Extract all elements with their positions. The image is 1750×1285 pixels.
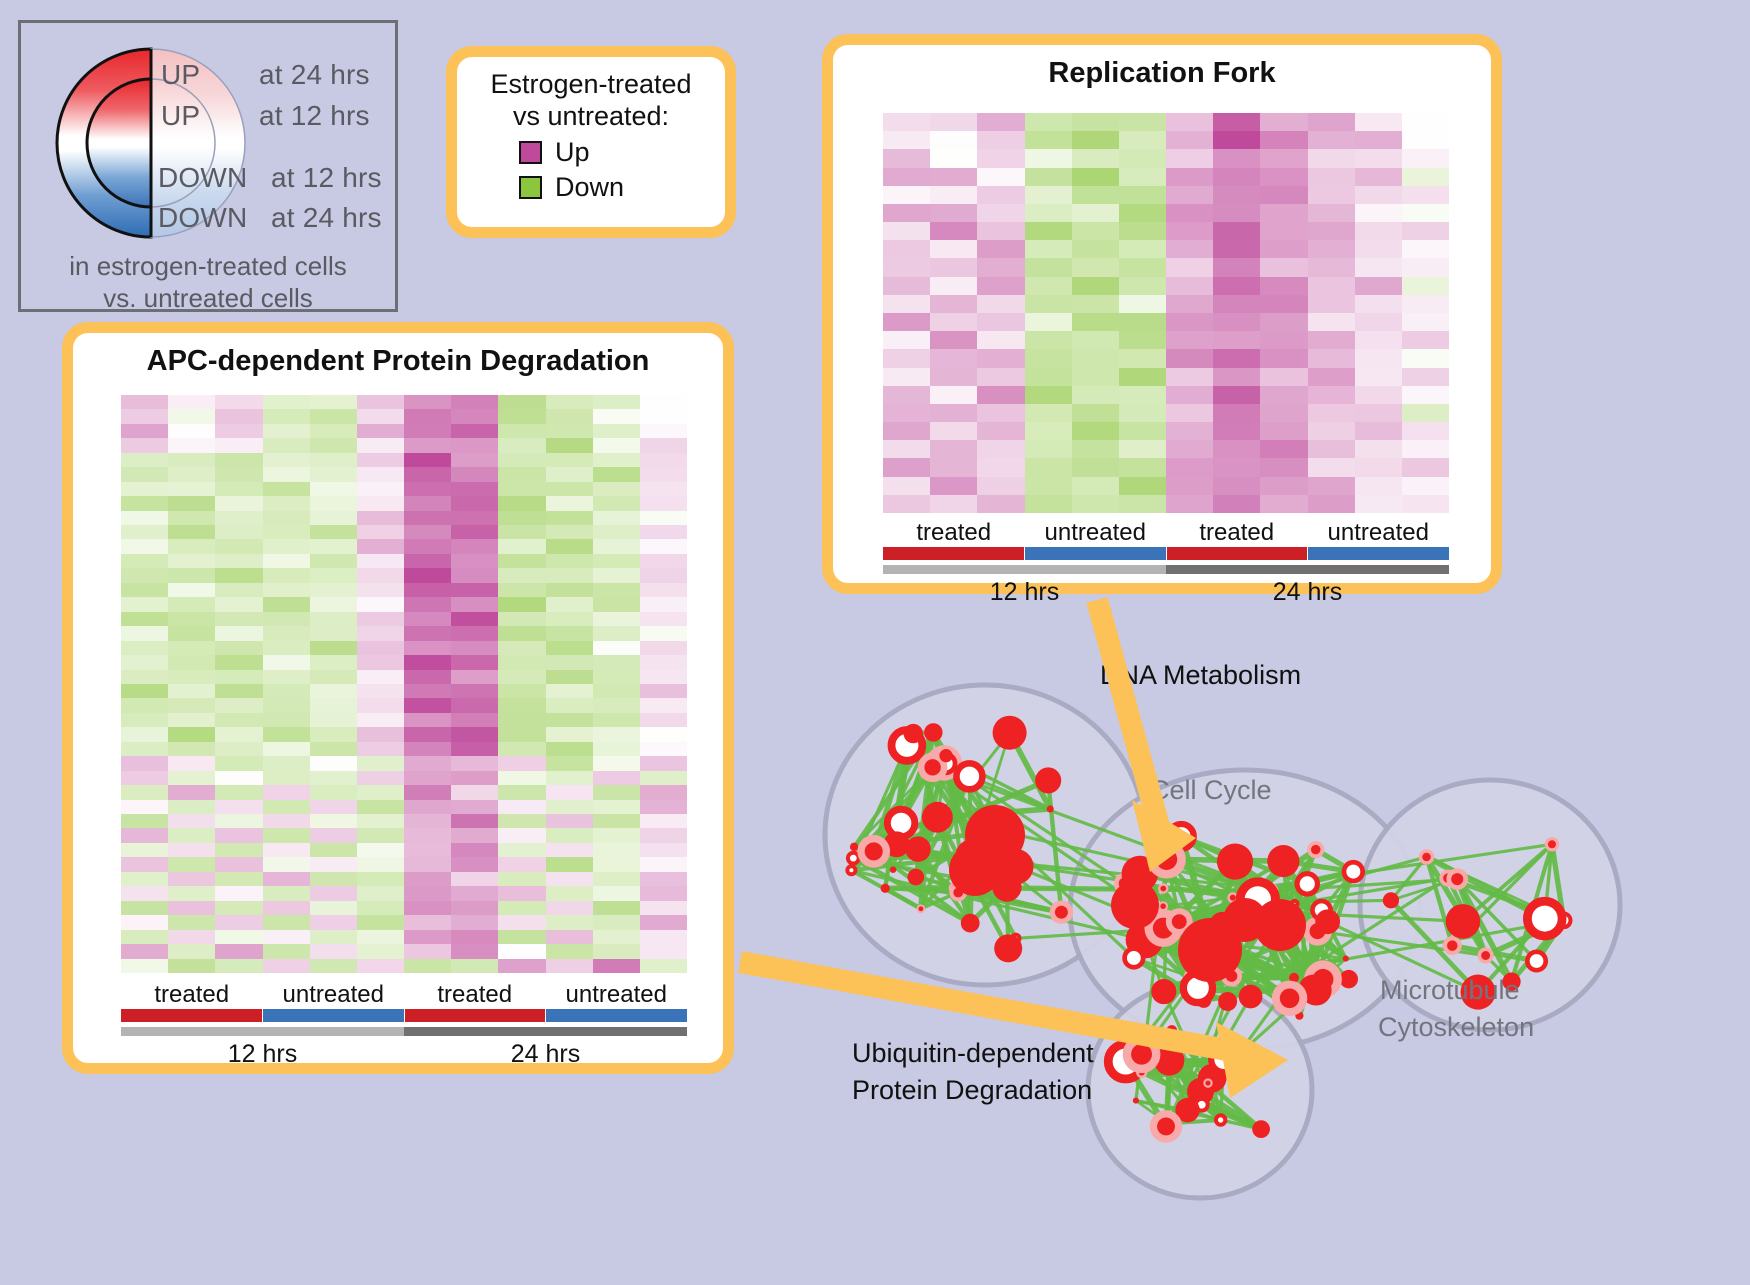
network-node — [1343, 955, 1349, 961]
heatmap-cell — [930, 331, 977, 349]
heatmap-cell — [883, 168, 930, 186]
heatmap-cell — [1308, 349, 1355, 367]
heatmap-cell — [168, 655, 215, 669]
heatmap-cell — [640, 930, 687, 944]
heatmap-cell — [883, 186, 930, 204]
heatmap-cell — [546, 785, 593, 799]
heatmap-cell — [593, 453, 640, 467]
color-key-footer: in estrogen-treated cells vs. untreated … — [21, 251, 395, 314]
heatmap-cell — [168, 785, 215, 799]
network-node-core — [1447, 940, 1458, 951]
heatmap-cell — [404, 583, 451, 597]
network-node — [994, 934, 1022, 962]
heatmap-cell — [930, 368, 977, 386]
heatmap-cell — [404, 496, 451, 510]
heatmap-cell — [977, 131, 1024, 149]
replication-fork-title: Replication Fork — [833, 57, 1491, 90]
heatmap-cell — [404, 655, 451, 669]
network-hub-node — [949, 844, 1001, 896]
heatmap-cell — [1072, 131, 1119, 149]
heatmap-cell — [1166, 258, 1213, 276]
heatmap-cell — [215, 670, 262, 684]
heatmap-cell — [121, 828, 168, 842]
heatmap-cell — [263, 944, 310, 958]
network-node-core — [1280, 989, 1300, 1009]
heatmap-cell — [451, 554, 498, 568]
heatmap-cell — [215, 785, 262, 799]
heatmap-cell — [263, 511, 310, 525]
network-node — [924, 723, 942, 741]
heatmap-cell — [930, 131, 977, 149]
condition-bar — [1167, 547, 1308, 560]
heatmap-cell — [1119, 149, 1166, 167]
apc-degradation-title: APC-dependent Protein Degradation — [73, 345, 723, 378]
heatmap-cell — [215, 626, 262, 640]
heatmap-cell — [1260, 204, 1307, 222]
heatmap-cell — [404, 800, 451, 814]
heatmap-cell — [121, 742, 168, 756]
heatmap-cell — [1308, 404, 1355, 422]
heatmap-cell — [1308, 240, 1355, 258]
heatmap-cell — [357, 742, 404, 756]
heatmap-cell — [215, 525, 262, 539]
heatmap-cell — [451, 771, 498, 785]
heatmap-cell — [404, 742, 451, 756]
heatmap-cell — [1072, 477, 1119, 495]
replication-fork-time-bars — [883, 565, 1449, 574]
heatmap-cell — [357, 872, 404, 886]
condition-bar — [121, 1009, 262, 1022]
heatmap-cell — [1260, 386, 1307, 404]
heatmap-cell — [168, 901, 215, 915]
heatmap-cell — [121, 915, 168, 929]
network-node — [907, 869, 924, 886]
heatmap-cell — [1355, 277, 1402, 295]
heatmap-cell — [1260, 477, 1307, 495]
heatmap-cell — [640, 713, 687, 727]
heatmap-cell — [310, 525, 357, 539]
heatmap-cell — [546, 771, 593, 785]
heatmap-cell — [404, 525, 451, 539]
heatmap-cell — [121, 756, 168, 770]
heatmap-cell — [310, 655, 357, 669]
heatmap-cell — [310, 713, 357, 727]
heatmap-cell — [263, 453, 310, 467]
heatmap-cell — [546, 843, 593, 857]
heatmap-cell — [310, 901, 357, 915]
heatmap-cell — [1355, 313, 1402, 331]
heatmap-cell — [1166, 458, 1213, 476]
heatmap-cell — [215, 698, 262, 712]
heatmap-cell — [168, 438, 215, 452]
heatmap-cell — [546, 409, 593, 423]
heatmap-cell — [1260, 222, 1307, 240]
heatmap-cell — [593, 886, 640, 900]
heatmap-cell — [263, 583, 310, 597]
heatmap-cell — [1355, 149, 1402, 167]
replication-fork-condition-bars — [883, 547, 1449, 560]
heatmap-cell — [1213, 131, 1260, 149]
heatmap-cell — [263, 409, 310, 423]
heatmap-cell — [498, 597, 545, 611]
heatmap-cell — [1402, 295, 1449, 313]
heatmap-cell — [1072, 240, 1119, 258]
network-graph — [790, 620, 1750, 1280]
heatmap-cell — [451, 583, 498, 597]
heatmap-cell — [215, 872, 262, 886]
heatmap-cell — [168, 698, 215, 712]
heatmap-cell — [121, 944, 168, 958]
heatmap-cell — [1119, 186, 1166, 204]
heatmap-cell — [930, 422, 977, 440]
heatmap-cell — [1355, 131, 1402, 149]
heatmap-cell — [310, 930, 357, 944]
network-node — [847, 866, 855, 874]
heatmap-cell — [168, 800, 215, 814]
heatmap-cell — [404, 438, 451, 452]
cluster-label-ubiquitin: Ubiquitin-dependent — [852, 1038, 1094, 1069]
heatmap-cell — [498, 785, 545, 799]
condition-label: untreated — [1308, 519, 1450, 547]
heatmap-cell — [451, 655, 498, 669]
heatmap-cell — [593, 857, 640, 871]
heatmap-cell — [310, 944, 357, 958]
heatmap-cell — [1213, 204, 1260, 222]
heatmap-cell — [357, 655, 404, 669]
heatmap-cell — [1355, 440, 1402, 458]
heatmap-cell — [593, 713, 640, 727]
heatmap-cell — [121, 612, 168, 626]
heatmap-cell — [1119, 331, 1166, 349]
heatmap-cell — [451, 568, 498, 582]
heatmap-cell — [451, 496, 498, 510]
heatmap-cell — [310, 511, 357, 525]
heatmap-cell — [977, 277, 1024, 295]
heatmap-cell — [640, 612, 687, 626]
heatmap-cell — [121, 597, 168, 611]
heatmap-cell — [451, 814, 498, 828]
heatmap-cell — [404, 959, 451, 973]
heatmap-cell — [593, 727, 640, 741]
heatmap-cell — [883, 422, 930, 440]
heatmap-cell — [121, 539, 168, 553]
heatmap-cell — [310, 612, 357, 626]
heatmap-cell — [1260, 404, 1307, 422]
heatmap-cell — [357, 626, 404, 640]
heatmap-cell — [404, 930, 451, 944]
heatmap-cell — [168, 482, 215, 496]
heatmap-cell — [1025, 277, 1072, 295]
heatmap-cell — [1260, 277, 1307, 295]
network-node — [1527, 901, 1562, 936]
heatmap-cell — [168, 944, 215, 958]
heatmap-cell — [1025, 386, 1072, 404]
heatmap-cell — [593, 771, 640, 785]
heatmap-cell — [1308, 458, 1355, 476]
heatmap-cell — [546, 626, 593, 640]
heatmap-cell — [1025, 349, 1072, 367]
heatmap-cell — [977, 440, 1024, 458]
heatmap-cell — [1260, 168, 1307, 186]
heatmap-cell — [357, 525, 404, 539]
heatmap-cell — [1402, 131, 1449, 149]
network-node — [1315, 909, 1340, 934]
heatmap-cell — [215, 438, 262, 452]
heatmap-cell — [357, 843, 404, 857]
heatmap-cell — [310, 482, 357, 496]
heatmap-cell — [168, 771, 215, 785]
heatmap-cell — [546, 467, 593, 481]
heatmap-cell — [640, 742, 687, 756]
heatmap-cell — [1166, 113, 1213, 131]
heatmap-cell — [451, 525, 498, 539]
key-row-0-time: at 24 hrs — [259, 59, 370, 91]
heatmap-cell — [357, 409, 404, 423]
heatmap-cell — [1166, 204, 1213, 222]
heatmap-cell — [121, 496, 168, 510]
apc-time-bars — [121, 1027, 687, 1036]
heatmap-cell — [546, 727, 593, 741]
heatmap-cell — [451, 539, 498, 553]
legend-title-line2: vs untreated: — [457, 101, 725, 133]
heatmap-cell — [451, 915, 498, 929]
heatmap-cell — [168, 959, 215, 973]
heatmap-cell — [640, 727, 687, 741]
time-bar — [1166, 565, 1449, 574]
heatmap-cell — [498, 742, 545, 756]
heatmap-cell — [640, 568, 687, 582]
heatmap-cell — [546, 511, 593, 525]
heatmap-cell — [498, 857, 545, 871]
heatmap-cell — [640, 857, 687, 871]
heatmap-cell — [1119, 240, 1166, 258]
time-label: 24 hrs — [404, 1040, 687, 1069]
heatmap-cell — [168, 626, 215, 640]
heatmap-cell — [1308, 422, 1355, 440]
heatmap-cell — [1213, 149, 1260, 167]
heatmap-cell — [215, 496, 262, 510]
heatmap-cell — [1213, 258, 1260, 276]
heatmap-cell — [357, 438, 404, 452]
heatmap-cell — [498, 554, 545, 568]
heatmap-cell — [883, 477, 930, 495]
heatmap-cell — [640, 843, 687, 857]
heatmap-cell — [1119, 368, 1166, 386]
key-row-2-label: DOWN — [158, 162, 247, 194]
heatmap-cell — [451, 438, 498, 452]
heatmap-cell — [1260, 295, 1307, 313]
heatmap-cell — [977, 404, 1024, 422]
heatmap-cell — [310, 698, 357, 712]
heatmap-cell — [451, 800, 498, 814]
heatmap-cell — [546, 828, 593, 842]
heatmap-cell — [1119, 222, 1166, 240]
heatmap-cell — [1119, 313, 1166, 331]
network-node — [939, 749, 952, 762]
heatmap-cell — [357, 496, 404, 510]
heatmap-cell — [1213, 186, 1260, 204]
color-key-footer-line2: vs. untreated cells — [21, 283, 395, 315]
heatmap-cell — [1260, 349, 1307, 367]
heatmap-cell — [357, 684, 404, 698]
heatmap-cell — [451, 409, 498, 423]
network-node — [1297, 874, 1317, 894]
heatmap-cell — [1119, 131, 1166, 149]
heatmap-cell — [1025, 458, 1072, 476]
heatmap-cell — [451, 959, 498, 973]
heatmap-cell — [357, 828, 404, 842]
heatmap-cell — [215, 641, 262, 655]
heatmap-cell — [357, 930, 404, 944]
heatmap-cell — [546, 641, 593, 655]
heatmap-cell — [451, 843, 498, 857]
heatmap-cell — [1402, 368, 1449, 386]
time-bar — [883, 565, 1166, 574]
heatmap-cell — [1025, 204, 1072, 222]
network-node — [905, 836, 930, 861]
network-node-core — [1311, 845, 1320, 854]
heatmap-cell — [215, 901, 262, 915]
heatmap-cell — [1355, 222, 1402, 240]
heatmap-cell — [168, 843, 215, 857]
heatmap-cell — [263, 843, 310, 857]
heatmap-cell — [263, 655, 310, 669]
heatmap-cell — [593, 525, 640, 539]
heatmap-cell — [404, 467, 451, 481]
heatmap-cell — [357, 857, 404, 871]
heatmap-cell — [977, 186, 1024, 204]
heatmap-cell — [404, 785, 451, 799]
heatmap-cell — [121, 482, 168, 496]
heatmap-cell — [498, 482, 545, 496]
heatmap-cell — [1308, 168, 1355, 186]
heatmap-cell — [1355, 422, 1402, 440]
heatmap-cell — [640, 453, 687, 467]
network-node — [1527, 952, 1545, 970]
heatmap-cell — [1072, 222, 1119, 240]
heatmap-cell — [593, 568, 640, 582]
heatmap-cell — [1308, 331, 1355, 349]
heatmap-cell — [593, 626, 640, 640]
heatmap-cell — [1025, 113, 1072, 131]
heatmap-cell — [1355, 186, 1402, 204]
heatmap-cell — [215, 713, 262, 727]
heatmap-cell — [1166, 495, 1213, 513]
heatmap-cell — [215, 727, 262, 741]
condition-bar — [405, 1009, 546, 1022]
heatmap-cell — [357, 424, 404, 438]
heatmap-cell — [263, 901, 310, 915]
heatmap-cell — [1308, 295, 1355, 313]
heatmap-cell — [215, 814, 262, 828]
heatmap-cell — [263, 828, 310, 842]
heatmap-cell — [1402, 440, 1449, 458]
legend-swatch-up-icon — [519, 141, 542, 164]
heatmap-cell — [121, 409, 168, 423]
heatmap-cell — [215, 539, 262, 553]
heatmap-cell — [1308, 368, 1355, 386]
heatmap-cell — [546, 814, 593, 828]
heatmap-cell — [357, 785, 404, 799]
heatmap-cell — [593, 597, 640, 611]
heatmap-cell — [883, 131, 930, 149]
heatmap-cell — [1213, 440, 1260, 458]
heatmap-cell — [215, 424, 262, 438]
heatmap-cell — [498, 843, 545, 857]
heatmap-cell — [546, 800, 593, 814]
heatmap-cell — [215, 568, 262, 582]
heatmap-cell — [1119, 258, 1166, 276]
heatmap-cell — [1260, 368, 1307, 386]
network-node-core — [1157, 1118, 1175, 1136]
heatmap-cell — [168, 641, 215, 655]
heatmap-cell — [1402, 113, 1449, 131]
heatmap-cell — [930, 349, 977, 367]
heatmap-cell — [640, 771, 687, 785]
heatmap-cell — [263, 713, 310, 727]
heatmap-cell — [168, 742, 215, 756]
heatmap-cell — [1072, 349, 1119, 367]
network-node-core — [1160, 903, 1166, 909]
heatmap-cell — [1119, 495, 1166, 513]
heatmap-cell — [593, 698, 640, 712]
heatmap-cell — [1308, 222, 1355, 240]
heatmap-cell — [593, 554, 640, 568]
heatmap-cell — [640, 698, 687, 712]
legend-title: Estrogen-treated vs untreated: — [457, 69, 725, 133]
heatmap-cell — [1260, 331, 1307, 349]
heatmap-cell — [451, 511, 498, 525]
heatmap-cell — [404, 409, 451, 423]
heatmap-cell — [640, 944, 687, 958]
heatmap-cell — [593, 915, 640, 929]
heatmap-cell — [1308, 277, 1355, 295]
heatmap-cell — [451, 727, 498, 741]
network-node — [1340, 970, 1358, 988]
heatmap-cell — [451, 785, 498, 799]
heatmap-cell — [546, 930, 593, 944]
heatmap-cell — [451, 742, 498, 756]
heatmap-cell — [404, 915, 451, 929]
heatmap-cell — [593, 670, 640, 684]
heatmap-cell — [310, 597, 357, 611]
heatmap-cell — [357, 800, 404, 814]
heatmap-cell — [546, 597, 593, 611]
heatmap-cell — [1166, 349, 1213, 367]
heatmap-cell — [883, 113, 930, 131]
heatmap-cell — [1308, 313, 1355, 331]
heatmap-cell — [1166, 168, 1213, 186]
heatmap-cell — [310, 727, 357, 741]
heatmap-cell — [1213, 422, 1260, 440]
heatmap-cell — [1355, 386, 1402, 404]
heatmap-cell — [215, 828, 262, 842]
heatmap-cell — [1072, 149, 1119, 167]
heatmap-cell — [215, 409, 262, 423]
heatmap-cell — [546, 959, 593, 973]
heatmap-cell — [1355, 295, 1402, 313]
heatmap-cell — [593, 930, 640, 944]
time-label: 24 hrs — [1166, 578, 1449, 607]
network-node-core — [1156, 849, 1177, 870]
heatmap-cell — [263, 424, 310, 438]
network-node — [890, 866, 897, 873]
heatmap-cell — [1072, 458, 1119, 476]
network-node-core — [1055, 906, 1068, 919]
heatmap-cell — [593, 756, 640, 770]
updown-legend-panel: Estrogen-treated vs untreated: Up Down — [446, 46, 736, 238]
heatmap-cell — [498, 438, 545, 452]
